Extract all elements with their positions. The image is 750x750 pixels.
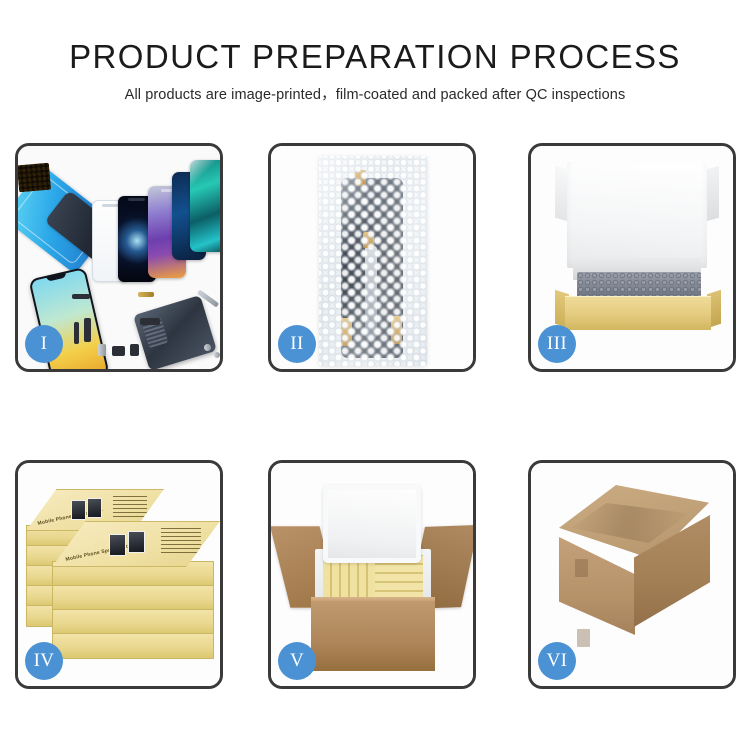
step-2-image: II (271, 146, 473, 369)
screw-part (204, 344, 211, 351)
chip-array-part (18, 163, 51, 193)
step-1-badge: I (25, 325, 63, 363)
spare-part-ic (130, 344, 139, 356)
step-3-badge: III (538, 325, 576, 363)
box-front-yellow (565, 296, 711, 330)
process-grid: I II (15, 143, 737, 685)
page-title: PRODUCT PREPARATION PROCESS (0, 38, 750, 76)
foam-box-lid (323, 485, 421, 563)
screw-part (214, 352, 220, 358)
process-step-3[interactable]: III (528, 143, 736, 372)
step-4-image: Mobile Phone Spare Parts Mobile Phone Sp… (18, 463, 220, 686)
box-print-phone (71, 500, 86, 520)
process-step-1[interactable]: I (15, 143, 223, 372)
phone-teal-wave (190, 160, 220, 252)
box-side-face (52, 633, 214, 659)
step-1-image: I (18, 146, 220, 369)
header: PRODUCT PREPARATION PROCESS All products… (0, 38, 750, 104)
box-print-phone (109, 534, 126, 556)
step-6-badge: VI (538, 642, 576, 680)
box-lid-white (567, 162, 707, 268)
step-5-image: V (271, 463, 473, 686)
plastic-sheen (319, 156, 427, 366)
box-print-lines (113, 496, 147, 518)
spare-part-strip (72, 294, 90, 299)
step-4-badge: IV (25, 642, 63, 680)
step-6-image: VI (531, 463, 733, 686)
page-root: PRODUCT PREPARATION PROCESS All products… (0, 0, 750, 750)
spare-part-bar (84, 318, 91, 342)
box-print-lines (161, 528, 201, 554)
carton-handle-tab (577, 629, 590, 647)
box-print-phone (87, 498, 102, 518)
bubble-bag (319, 156, 427, 366)
box-side-face (52, 585, 214, 611)
spare-part-bar (74, 322, 79, 344)
process-step-5[interactable]: V (268, 460, 476, 689)
spare-part-gold-flex (138, 292, 154, 297)
page-subtitle: All products are image-printed，film-coat… (0, 83, 750, 104)
box-print-phone (128, 531, 145, 553)
step-5-badge: V (278, 642, 316, 680)
spare-part-ribbon (140, 318, 160, 325)
process-step-4[interactable]: Mobile Phone Spare Parts Mobile Phone Sp… (15, 460, 223, 689)
grey-bubble-wrap (577, 272, 701, 298)
spare-part-connector (98, 344, 106, 356)
spare-part-camera (112, 346, 125, 356)
step-2-badge: II (278, 325, 316, 363)
carton-body (311, 601, 435, 671)
carton-handle-tab (575, 559, 588, 577)
process-step-6[interactable]: VI (528, 460, 736, 689)
step-3-image: III (531, 146, 733, 369)
box-side-face (52, 609, 214, 635)
process-step-2[interactable]: II (268, 143, 476, 372)
